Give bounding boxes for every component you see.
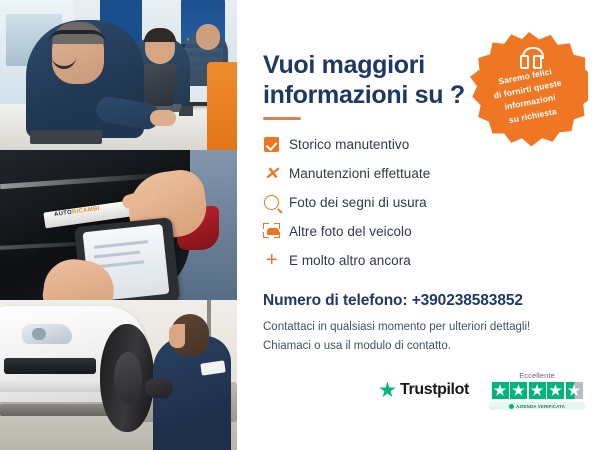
headset-earpiece-left — [520, 55, 529, 69]
crossed-tools-icon: ✕ — [263, 164, 289, 184]
magnifier-icon — [263, 193, 289, 213]
page-title-line2: informazioni su ? — [263, 81, 465, 109]
photo-mechanic-lift — [0, 300, 237, 450]
front-tyre — [100, 324, 154, 432]
plus-icon: + — [263, 251, 289, 271]
title-divider — [263, 117, 301, 120]
verified-company-badge: AZIENDA VERIFICATA — [489, 402, 585, 410]
rating-stars — [489, 382, 585, 399]
mechanic-face — [169, 324, 185, 348]
orange-object — [207, 62, 237, 150]
list-item: Altre foto del veicolo — [263, 217, 563, 246]
contact-subtext-line1: Contattaci in qualsiasi momento per ulte… — [263, 321, 530, 333]
mechanic-glove — [145, 378, 173, 398]
page-title: Vuoi maggiori informazioni su ? — [263, 50, 493, 111]
phone-number[interactable]: Numero di telefono: +390238583852 — [263, 292, 583, 310]
keyboard — [30, 130, 102, 144]
list-item: + E molto altro ancora — [263, 246, 563, 275]
checkbox-checked-icon — [263, 135, 289, 155]
list-item-label: E molto altro ancora — [289, 253, 411, 268]
trustpilot-star-icon — [379, 382, 396, 399]
promo-banner: AUTORICAMBI — [0, 0, 600, 450]
photo-collage: AUTORICAMBI — [0, 0, 237, 450]
star-filled — [529, 382, 546, 399]
feature-list: Storico manutentivo ✕ Manutenzioni effet… — [263, 130, 563, 275]
star-filled — [510, 382, 527, 399]
verified-label: AZIENDA VERIFICATA — [516, 404, 565, 409]
list-item-label: Manutenzioni effettuate — [289, 166, 430, 181]
car-scan-frame-icon — [263, 222, 289, 242]
trustpilot-rating: Eccellente AZIENDA VERIFICATA — [489, 371, 585, 410]
list-item: Foto dei segni di usura — [263, 188, 563, 217]
front-grille — [4, 358, 96, 374]
headset-icon — [520, 47, 542, 67]
contact-subtext-line2: Chiamaci o usa il modulo di contatto. — [263, 340, 451, 352]
photo-paint-gauge: AUTORICAMBI — [0, 150, 237, 300]
star-filled — [492, 382, 509, 399]
rating-label: Eccellente — [489, 371, 585, 380]
trustpilot-widget[interactable]: Trustpilot Eccellente AZIENDA VERIFICATA — [379, 371, 589, 419]
list-item-label: Storico manutentivo — [289, 137, 409, 152]
lift-arm — [0, 404, 118, 416]
background-person-head — [196, 24, 220, 50]
photo-call-center — [0, 0, 237, 150]
trustpilot-brand-label: Trustpilot — [400, 381, 469, 399]
content-panel: Vuoi maggiori informazioni su ? Saremo f… — [237, 0, 600, 450]
contact-subtext: Contattaci in qualsiasi momento per ulte… — [263, 318, 563, 355]
star-half — [566, 382, 583, 399]
front-bumper — [0, 378, 110, 392]
verified-check-icon — [509, 404, 514, 409]
star-filled — [547, 382, 564, 399]
trustpilot-logo: Trustpilot — [379, 381, 469, 399]
list-item: Storico manutentivo — [263, 130, 563, 159]
front-agent-hand — [150, 110, 176, 126]
page-title-line1: Vuoi maggiori — [263, 51, 425, 79]
front-agent-headset — [48, 30, 106, 44]
list-item-label: Foto dei segni di usura — [289, 195, 427, 210]
list-item-label: Altre foto del veicolo — [289, 224, 412, 239]
headlight — [22, 324, 72, 344]
list-item: ✕ Manutenzioni effettuate — [263, 159, 563, 188]
